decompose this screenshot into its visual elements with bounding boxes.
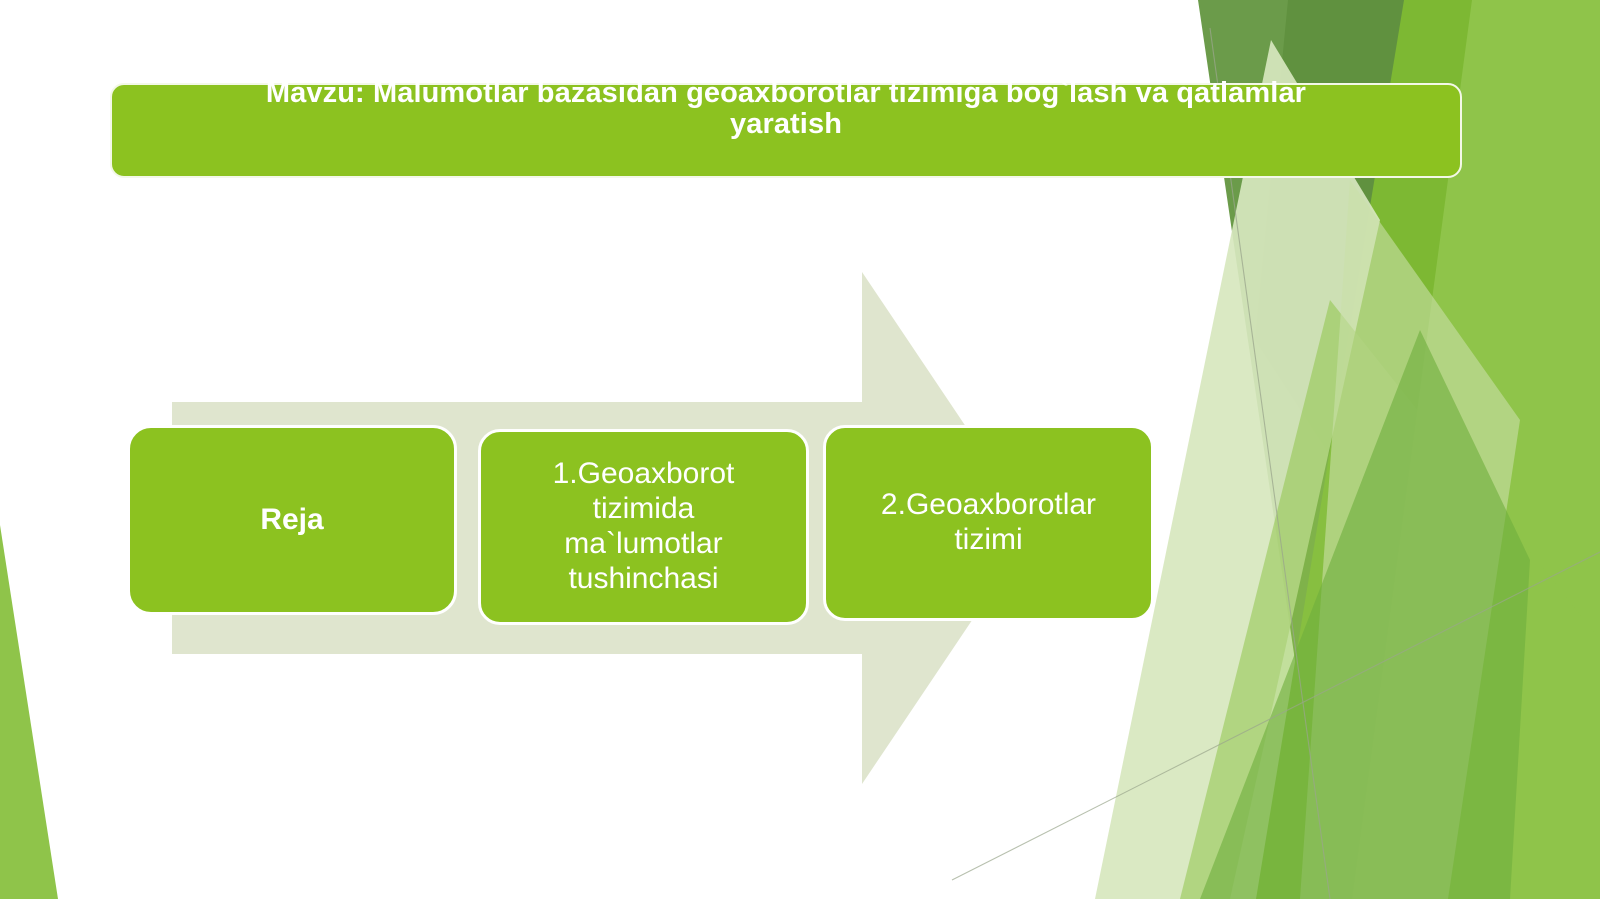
- presentation-slide: Mavzu: Malumotlar bazasidan geoaxborotla…: [0, 0, 1600, 899]
- page-title: Mavzu: Malumotlar bazasidan geoaxborotla…: [110, 78, 1462, 141]
- stage-box-label: 1.Geoaxborot tizimida ma`lumotlar tushin…: [553, 457, 735, 596]
- stage-box-topic-2[interactable]: 2.Geoaxborotlar tizimi: [823, 425, 1154, 621]
- decoration-shape-pale-2: [1180, 300, 1600, 899]
- decoration-shape-pale-3: [1300, 180, 1520, 899]
- stage-box-label: Reja: [260, 503, 323, 538]
- decoration-shape-mid-2: [1200, 330, 1530, 899]
- stage-box-label: 2.Geoaxborotlar tizimi: [881, 488, 1096, 558]
- stage-box-topic-1[interactable]: 1.Geoaxborot tizimida ma`lumotlar tushin…: [478, 429, 809, 625]
- stage-box-reja[interactable]: Reja: [127, 425, 457, 615]
- decoration-shape-bottom-left: [0, 525, 58, 899]
